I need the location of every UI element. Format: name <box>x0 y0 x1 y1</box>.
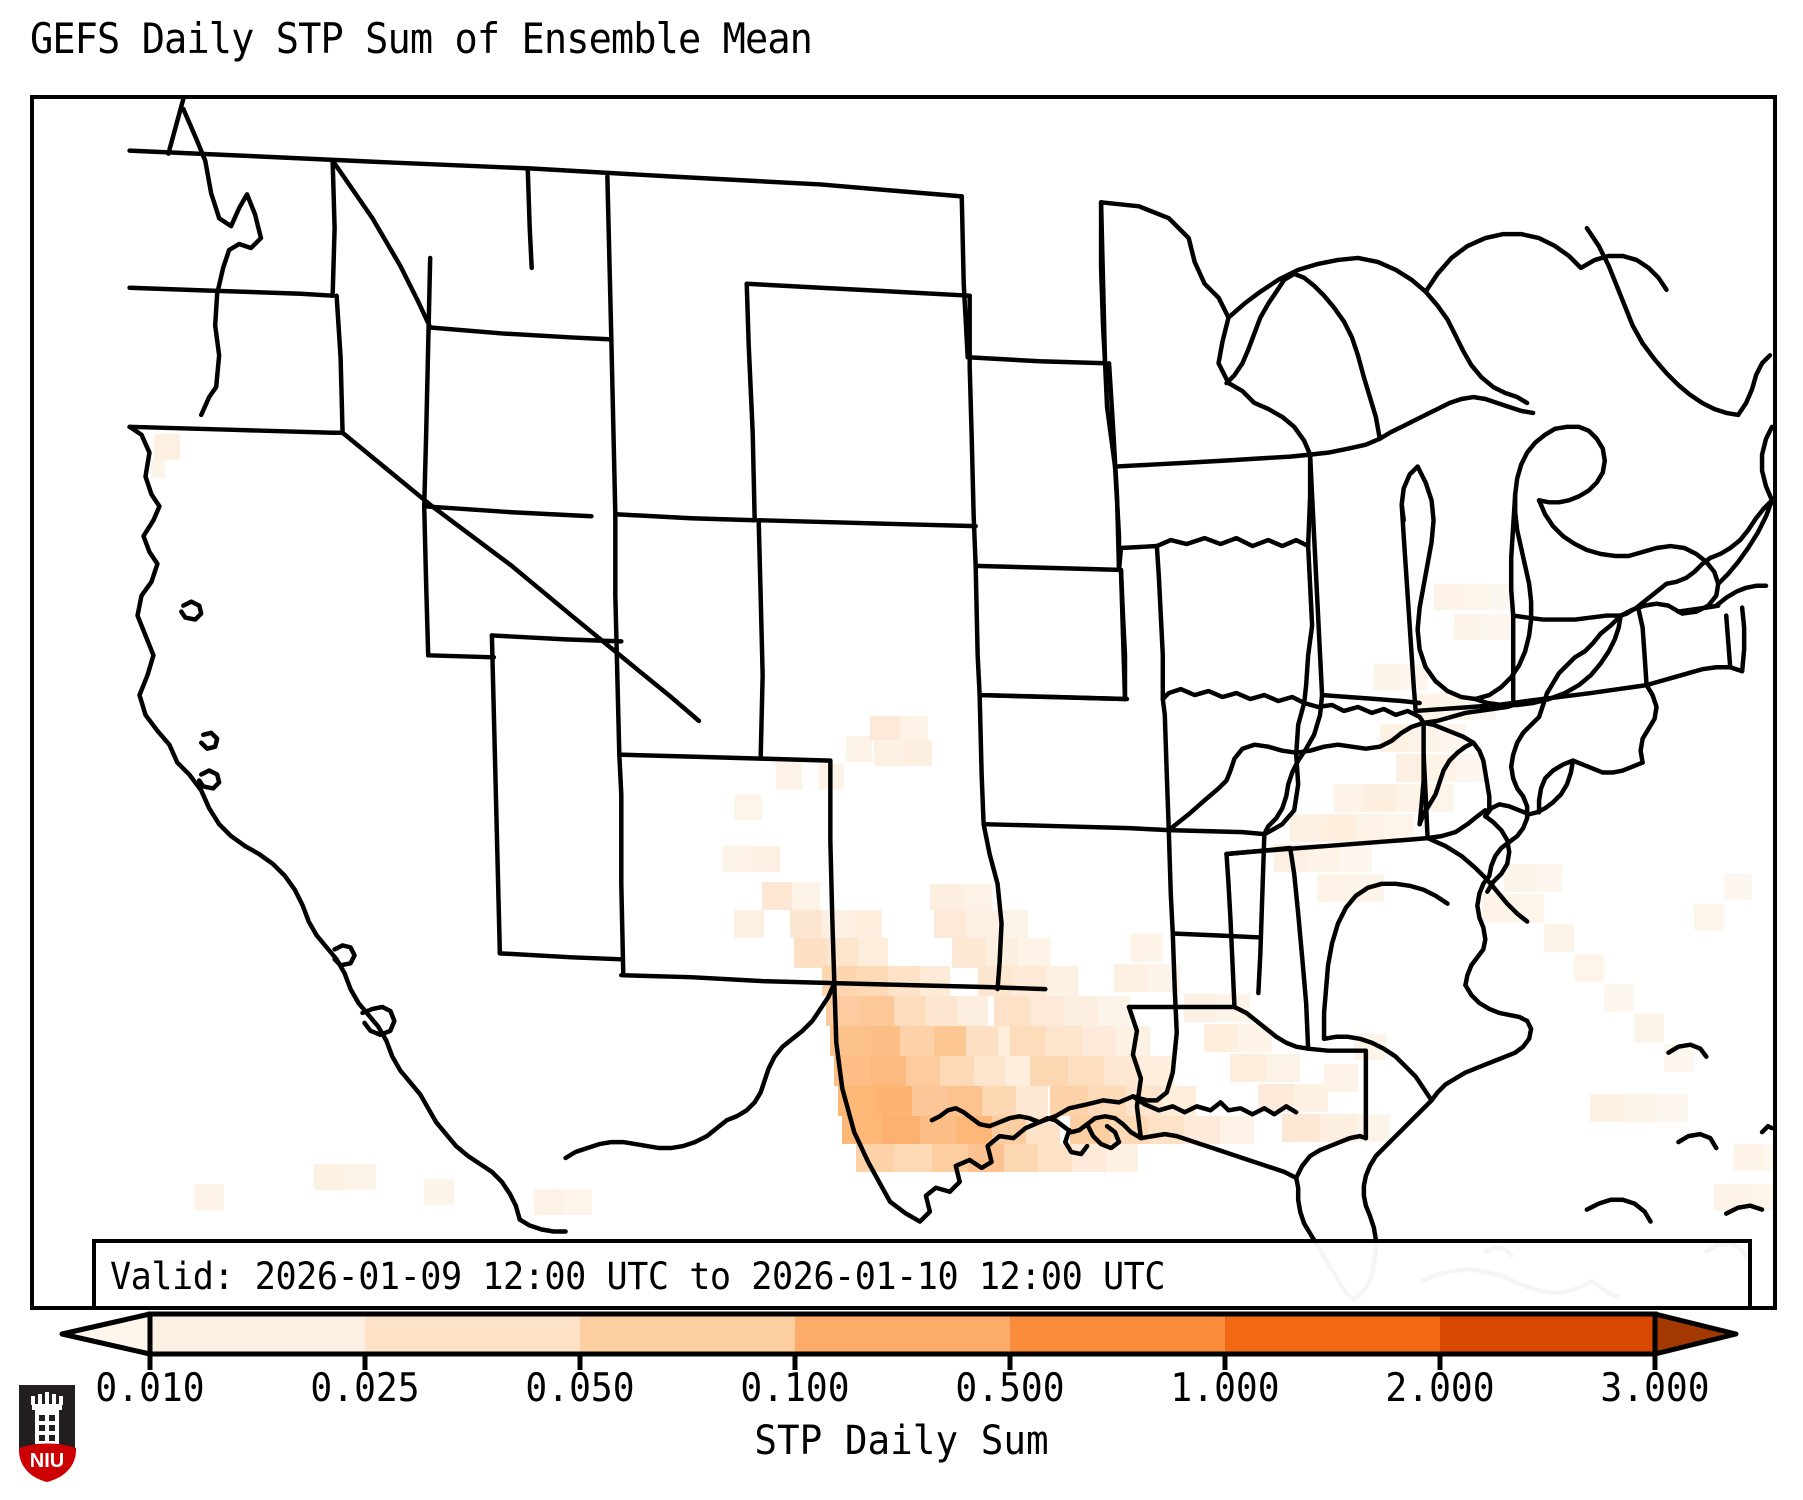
page-title: GEFS Daily STP Sum of Ensemble Mean <box>30 14 812 63</box>
map-geography <box>34 99 1773 1306</box>
colorbar-band <box>1010 1316 1226 1352</box>
colorbar-tick-label: 1.000 <box>1170 1366 1279 1411</box>
colorbar-band <box>150 1316 366 1352</box>
colorbar-gradient <box>0 1310 1803 1370</box>
valid-time-line: Valid: 2026-01-09 12:00 UTC to 2026-01-1… <box>110 1249 1653 1305</box>
colorbar-tick-label: 0.500 <box>955 1366 1064 1411</box>
map-panel: Valid: 2026-01-09 12:00 UTC to 2026-01-1… <box>30 95 1777 1310</box>
colorbar-tick-label: 0.025 <box>310 1366 419 1411</box>
colorbar-tick-label: 2.000 <box>1385 1366 1494 1411</box>
colorbar-band <box>580 1316 796 1352</box>
niu-logo: NIU <box>16 1382 78 1484</box>
info-box: Valid: 2026-01-09 12:00 UTC to 2026-01-1… <box>92 1239 1752 1310</box>
colorbar-band <box>795 1316 1011 1352</box>
colorbar-band <box>1225 1316 1441 1352</box>
colorbar-tick-label: 3.000 <box>1600 1366 1709 1411</box>
colorbar-title: STP Daily Sum <box>54 1418 1749 1464</box>
colorbar-tick-label: 0.010 <box>95 1366 204 1411</box>
niu-banner-text: NIU <box>30 1450 64 1472</box>
colorbar: 0.0100.0250.0500.1000.5001.0002.0003.000 <box>0 1310 1803 1410</box>
colorbar-tick-label: 0.100 <box>740 1366 849 1411</box>
colorbar-band <box>1440 1316 1656 1352</box>
colorbar-tick-label: 0.050 <box>525 1366 634 1411</box>
colorbar-band <box>365 1316 581 1352</box>
